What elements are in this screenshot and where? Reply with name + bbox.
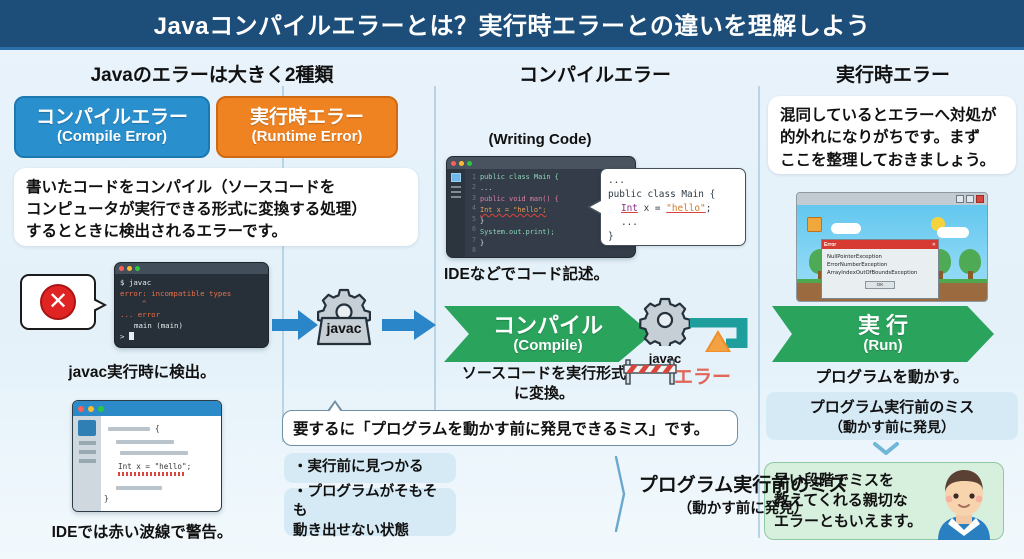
ide-code-area: { Int x = "hello"; } <box>101 416 221 512</box>
javac-terminal-group: ✕ $ javac error: incompatible types ^ ..… <box>20 258 270 358</box>
badge-runtime-error: 実行時エラー (Runtime Error) <box>216 96 398 158</box>
badge-writing-code-en: (Writing Code) <box>444 131 636 148</box>
minimize-icon[interactable] <box>88 406 94 412</box>
exception-item: NullPointerException <box>827 253 933 261</box>
bottom-heading: プログラム実行前のミス （動かす前に発見） <box>628 470 858 518</box>
code-callout-bubble: ... public class Main { Int x = "hello";… <box>600 168 746 246</box>
error-callout-bubble: ✕ <box>20 274 96 330</box>
blue-arrow-2 <box>382 308 438 342</box>
exception-item: ErrorNumberException <box>827 261 933 269</box>
badge-compile-jp: コンパイルエラー <box>36 108 188 128</box>
chevron-down-icon <box>872 441 900 457</box>
bubble-line-2: public class Main { <box>608 188 738 202</box>
bubble-type-token: Int <box>621 203 638 214</box>
running-program-window: Error ✕ NullPointerException ErrorNumber… <box>796 192 988 302</box>
infographic-root: Javaコンパイルエラーとは？実行時エラーとの違いを理解しよう Javaのエラー… <box>0 0 1024 559</box>
terminal-line-1: $ javac <box>120 278 263 289</box>
title-bar: Javaコンパイルエラーとは？実行時エラーとの違いを理解しよう <box>0 0 1024 47</box>
program-titlebar <box>797 193 987 205</box>
right-note-box-line2: （動かす前に発見） <box>829 417 955 437</box>
title-rule <box>0 47 1024 50</box>
right-note-text: 混同しているとエラーへ対処が 的外れになりがちです。まず ここを整理しておきまし… <box>780 105 1004 172</box>
error-label-jp: エラー <box>674 362 731 389</box>
right-note-box: プログラム実行前のミス （動かす前に発見） <box>766 392 1018 440</box>
file-line-icon <box>79 441 96 445</box>
column-heading-left: Javaのエラーは大きく2種類 <box>12 60 412 87</box>
menu-line-icon <box>451 186 461 188</box>
bubble-line-5: } <box>608 230 738 244</box>
ide-code-line: Int x = "hello"; <box>118 462 214 471</box>
arrow-compile-jp: コンパイル <box>493 315 603 337</box>
maximize-icon[interactable] <box>467 161 472 166</box>
close-icon[interactable] <box>976 195 984 203</box>
barrier-icon <box>620 356 682 386</box>
bullet-box-2: ・プログラムがそもそも 動き出せない状態 <box>284 488 456 536</box>
gear-label-javac: javac <box>308 320 380 336</box>
terminal-line-4: ... error <box>120 310 263 321</box>
error-x-icon: ✕ <box>40 284 76 320</box>
page-title: Javaコンパイルエラーとは？実行時エラーとの違いを理解しよう <box>154 6 871 41</box>
caption-compile: ソースコードを実行形式 に変換。 <box>440 364 648 403</box>
error-dialog-titlebar: Error ✕ <box>822 240 938 249</box>
terminal-line-3: ^ <box>120 299 263 310</box>
arrow-run-en: (Run) <box>863 337 902 354</box>
arrow-compile: コンパイル (Compile) <box>444 306 652 362</box>
maximize-icon[interactable] <box>966 195 974 203</box>
file-line-icon <box>79 450 96 454</box>
maximize-icon[interactable] <box>98 406 104 412</box>
bubble-string-token: "hello" <box>666 203 706 214</box>
column-divider-2 <box>434 86 436 446</box>
bubble-assign: x = <box>644 203 667 214</box>
brace-icon <box>614 455 628 533</box>
gear-icon <box>308 288 380 348</box>
minimize-icon[interactable] <box>127 266 132 271</box>
minimize-icon[interactable] <box>956 195 964 203</box>
badge-compile-en: (Compile Error) <box>57 128 167 146</box>
bubble-line-3: Int x = "hello"; <box>608 202 738 216</box>
bottom-heading-line1: プログラム実行前のミス <box>628 470 858 497</box>
bottom-heading-line2: （動かす前に発見） <box>628 497 858 518</box>
cloud-icon <box>937 227 969 238</box>
arrow-compile-en: (Compile) <box>513 337 582 354</box>
terminal-titlebar <box>115 263 268 274</box>
caption-ide-writing: IDEなどでコード記述。 <box>444 262 744 284</box>
terminal-body: $ javac error: incompatible types ^ ... … <box>115 274 268 346</box>
minimize-icon[interactable] <box>459 161 464 166</box>
exception-list: NullPointerException ErrorNumberExceptio… <box>822 249 938 278</box>
close-icon[interactable] <box>119 266 124 271</box>
right-note-card: 混同しているとエラーへ対処が 的外れになりがちです。まず ここを整理しておきまし… <box>768 96 1016 174</box>
editor-line-numbers: 1 2 3 4 5 6 7 8 <box>465 169 476 258</box>
right-note-box-line1: プログラム実行前のミス <box>810 396 975 417</box>
menu-line-icon <box>451 196 461 198</box>
ide-body: { Int x = "hello"; } <box>73 416 221 512</box>
caption-javac-detect: javac実行時に検出。 <box>14 360 270 382</box>
game-scene: Error ✕ NullPointerException ErrorNumber… <box>797 205 987 301</box>
badge-compile-error: コンパイルエラー (Compile Error) <box>14 96 210 158</box>
bubble-line-4: ... <box>608 216 738 230</box>
exception-item: ArrayIndexOutOfBoundsException <box>827 269 933 277</box>
error-dialog-title: Error <box>824 242 836 248</box>
terminal-prompt: > <box>120 332 263 343</box>
left-description-text: 書いたコードをコンパイル（ソースコードを コンピュータが実行できる形式に変換する… <box>26 177 406 243</box>
terminal-icon <box>78 420 96 436</box>
summary-bubble-text: 要するに「プログラムを動かす前に発見できるミス」です。 <box>293 417 709 439</box>
explorer-icon <box>451 173 461 182</box>
column-heading-middle: コンパイルエラー <box>440 60 750 87</box>
terminal-line-5: main (main) <box>120 321 263 332</box>
editor-sidebar <box>447 169 465 258</box>
gear-icon <box>637 296 693 346</box>
close-icon[interactable]: ✕ <box>932 242 936 248</box>
menu-line-icon <box>451 191 461 193</box>
warning-triangle-icon <box>705 330 731 352</box>
tree-icon <box>959 249 981 283</box>
caption-run: プログラムを動かす。 <box>766 365 1018 387</box>
ok-button[interactable]: OK <box>865 281 895 289</box>
cloud-icon <box>831 223 861 234</box>
column-heading-right: 実行時エラー <box>770 60 1016 87</box>
javac-gear-group-left: javac <box>308 288 380 353</box>
close-icon[interactable] <box>78 406 84 412</box>
error-dialog: Error ✕ NullPointerException ErrorNumber… <box>821 239 939 299</box>
bullet-2-text: ・プログラムがそもそも 動き出せない状態 <box>293 483 447 540</box>
maximize-icon[interactable] <box>135 266 140 271</box>
badge-runtime-jp: 実行時エラー <box>250 108 364 128</box>
summary-bubble: 要するに「プログラムを動かす前に発見できるミス」です。 <box>282 410 738 446</box>
ide-titlebar <box>73 401 221 416</box>
file-line-icon <box>79 459 96 463</box>
block-icon <box>807 217 822 232</box>
bubble-line-1: ... <box>608 174 738 188</box>
bullet-1-text: ・実行前に見つかる <box>293 458 424 477</box>
bullet-box-1: ・実行前に見つかる <box>284 453 456 483</box>
ide-sidebar <box>73 416 101 512</box>
avatar-illustration <box>928 466 1000 540</box>
caption-ide-warning: IDEでは赤い波線で警告。 <box>14 520 270 542</box>
arrow-run: 実 行 (Run) <box>772 306 994 362</box>
close-icon[interactable] <box>451 161 456 166</box>
badge-runtime-en: (Runtime Error) <box>252 128 363 146</box>
arrow-run-jp: 実 行 <box>858 315 908 337</box>
terminal-window: $ javac error: incompatible types ^ ... … <box>114 262 269 348</box>
ide-window-left: { Int x = "hello"; } <box>72 400 222 512</box>
left-description-card: 書いたコードをコンパイル（ソースコードを コンピュータが実行できる形式に変換する… <box>14 168 418 246</box>
terminal-line-2: error: incompatible types <box>120 289 263 300</box>
